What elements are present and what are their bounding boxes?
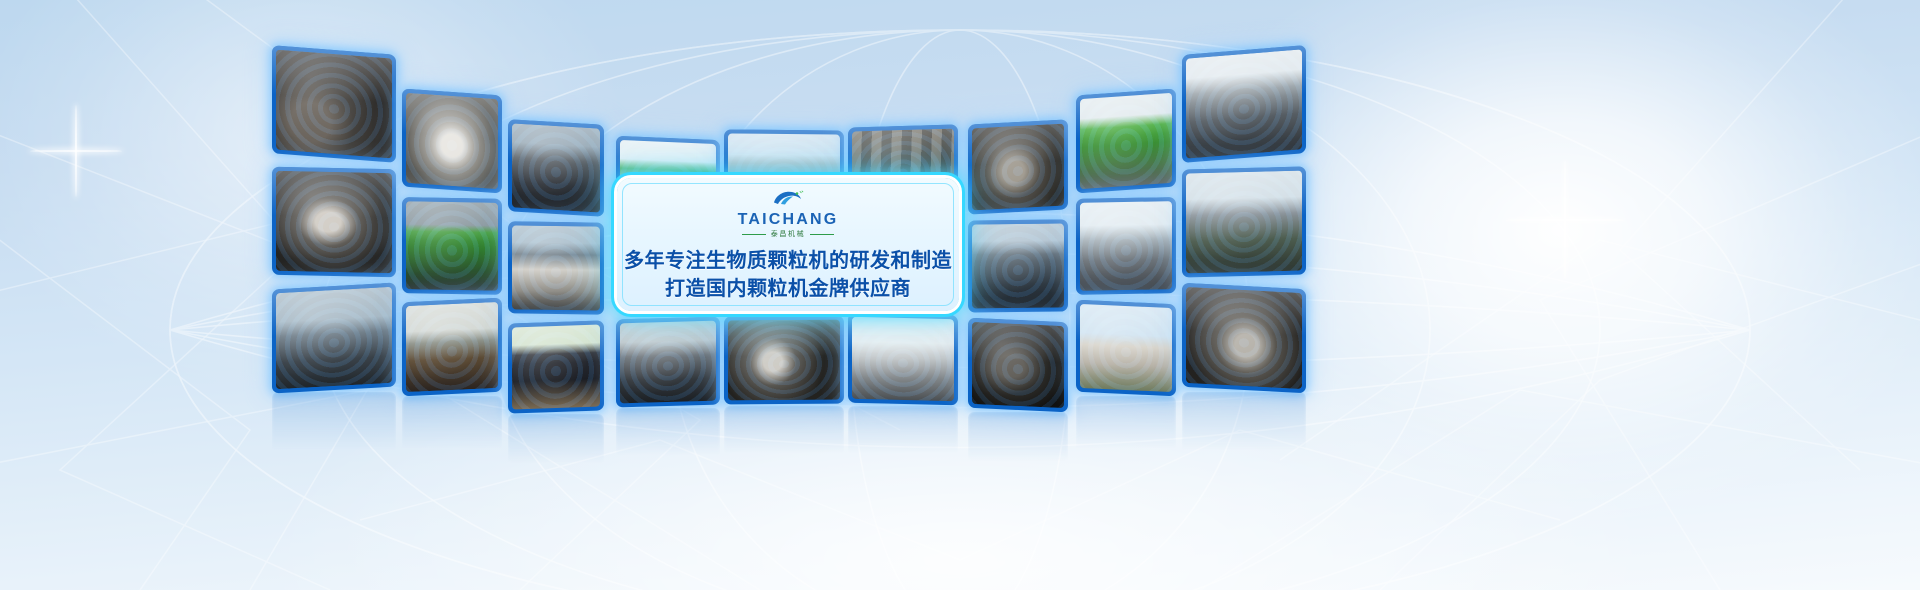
tile-roller-shells[interactable] bbox=[1182, 283, 1306, 393]
tile-ring-die-blades[interactable] bbox=[402, 89, 502, 194]
tile-gear-shafts-pile[interactable] bbox=[968, 119, 1068, 214]
tile-cnc-machining-center[interactable] bbox=[1182, 45, 1306, 163]
tile-workers-inspection[interactable] bbox=[508, 221, 604, 314]
slogan-line-2: 打造国内颗粒机金牌供应商 bbox=[624, 275, 952, 303]
tile-reflection bbox=[848, 406, 958, 456]
tile-reflection bbox=[968, 412, 1068, 464]
tile-green-pellet-machines[interactable] bbox=[402, 197, 502, 295]
tile-reflection bbox=[1182, 392, 1306, 454]
tile-factory-facade[interactable] bbox=[1076, 300, 1176, 397]
slogan-line-1: 多年专注生物质颗粒机的研发和制造 bbox=[624, 247, 952, 275]
logo-wordmark: TAICHANG bbox=[738, 212, 839, 228]
logo-subtitle-row: 泰昌机械 bbox=[742, 231, 834, 238]
logo-rule-left bbox=[742, 234, 766, 235]
taichang-swoosh-logo-icon bbox=[771, 189, 805, 210]
video-wall bbox=[0, 0, 1920, 590]
tile-reflection bbox=[616, 408, 720, 458]
tile-reflection bbox=[508, 414, 604, 466]
tile-control-cabinet[interactable] bbox=[848, 313, 958, 406]
tile-worker-at-lathe[interactable] bbox=[508, 119, 604, 217]
slogan-block: 多年专注生物质颗粒机的研发和制造 打造国内颗粒机金牌供应商 bbox=[624, 247, 952, 304]
tile-ring-die-test-bench[interactable] bbox=[402, 298, 502, 397]
company-logo: TAICHANG 泰昌机械 bbox=[738, 189, 839, 238]
tile-workshop-gantry[interactable] bbox=[272, 283, 396, 394]
tile-coiled-ring-dies[interactable] bbox=[968, 318, 1068, 413]
tile-reflection bbox=[272, 392, 396, 454]
banner-stage: TAICHANG 泰昌机械 多年专注生物质颗粒机的研发和制造 打造国内颗粒机金牌… bbox=[0, 0, 1920, 590]
logo-subtitle: 泰昌机械 bbox=[771, 231, 805, 238]
logo-rule-right bbox=[810, 234, 834, 235]
tile-ring-die-lathe-lower[interactable] bbox=[616, 317, 720, 408]
tile-ring-die-machining[interactable] bbox=[272, 167, 396, 278]
tile-business-handshake[interactable] bbox=[508, 320, 604, 413]
tile-gearbox-assemblies[interactable] bbox=[272, 45, 396, 163]
tile-green-press-machine[interactable] bbox=[1076, 89, 1176, 194]
tile-engineers-with-helmets[interactable] bbox=[968, 219, 1068, 312]
tile-reflection bbox=[402, 396, 502, 452]
tile-office-meeting[interactable] bbox=[1076, 197, 1176, 295]
tile-reflection bbox=[1076, 396, 1176, 452]
tile-bearing-stacks[interactable] bbox=[724, 316, 844, 405]
tile-assembly-hall[interactable] bbox=[1182, 166, 1306, 277]
tile-reflection bbox=[724, 406, 844, 456]
message-panel: TAICHANG 泰昌机械 多年专注生物质颗粒机的研发和制造 打造国内颗粒机金牌… bbox=[617, 178, 959, 311]
